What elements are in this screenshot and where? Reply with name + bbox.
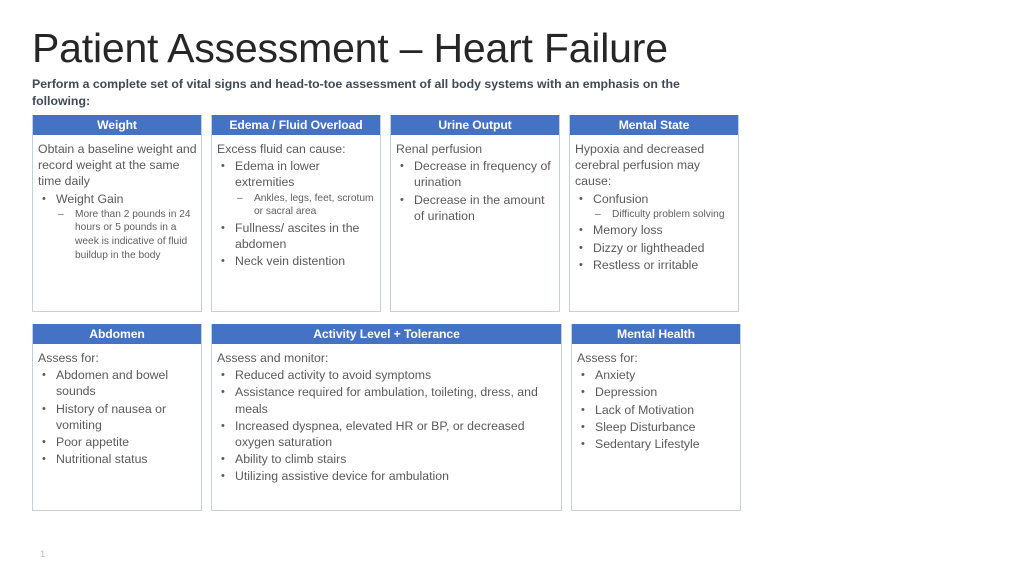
bullet-text: Poor appetite	[56, 435, 129, 449]
slide-canvas: Patient Assessment – Heart Failure Perfo…	[0, 0, 1024, 576]
card-row-top: Weight Obtain a baseline weight and reco…	[32, 115, 738, 312]
bullet-list: Weight Gain More than 2 pounds in 24 hou…	[38, 191, 197, 263]
list-item: History of nausea or vomiting	[38, 401, 197, 433]
page-title: Patient Assessment – Heart Failure	[32, 24, 792, 72]
card-header-edema-fluid-overload: Edema / Fluid Overload	[212, 115, 380, 135]
list-item: Decrease in the amount of urination	[396, 192, 555, 224]
bullet-text: Depression	[595, 385, 657, 399]
list-item: Abdomen and bowel sounds	[38, 367, 197, 399]
sub-list-item: Ankles, legs, feet, scrotum or sacral ar…	[235, 192, 376, 219]
card-lead-text: Renal perfusion	[396, 141, 555, 157]
list-item: Dizzy or lightheaded	[575, 240, 734, 256]
bullet-text: Anxiety	[595, 368, 635, 382]
list-item: Decrease in frequency of urination	[396, 158, 555, 190]
list-item: Edema in lower extremities Ankles, legs,…	[217, 158, 376, 219]
bullet-text: Decrease in the amount of urination	[414, 193, 545, 223]
list-item: Restless or irritable	[575, 257, 734, 273]
card-lead-text: Hypoxia and decreased cerebral perfusion…	[575, 141, 734, 190]
bullet-list: Decrease in frequency of urination Decre…	[396, 158, 555, 224]
card-body-activity-level-tolerance: Assess and monitor: Reduced activity to …	[212, 344, 561, 490]
card-urine-output[interactable]: Urine Output Renal perfusion Decrease in…	[390, 115, 560, 312]
bullet-text: Reduced activity to avoid symptoms	[235, 368, 431, 382]
bullet-text: History of nausea or vomiting	[56, 402, 166, 432]
sub-bullet-list: Ankles, legs, feet, scrotum or sacral ar…	[235, 192, 376, 219]
card-body-edema-fluid-overload: Excess fluid can cause: Edema in lower e…	[212, 135, 380, 274]
list-item: Assistance required for ambulation, toil…	[217, 384, 557, 416]
bullet-text: Nutritional status	[56, 452, 148, 466]
bullet-text: Assistance required for ambulation, toil…	[235, 385, 538, 415]
card-lead-text: Obtain a baseline weight and record weig…	[38, 141, 197, 190]
card-lead-text: Assess for:	[577, 350, 736, 366]
list-item: Memory loss	[575, 222, 734, 238]
list-item: Ability to climb stairs	[217, 451, 557, 467]
bullet-list: Anxiety Depression Lack of Motivation Sl…	[577, 367, 736, 452]
card-edema-fluid-overload[interactable]: Edema / Fluid Overload Excess fluid can …	[211, 115, 381, 312]
card-abdomen[interactable]: Abdomen Assess for: Abdomen and bowel so…	[32, 324, 202, 511]
bullet-text: Neck vein distention	[235, 254, 345, 268]
card-lead-text: Assess for:	[38, 350, 197, 366]
bullet-text: Fullness/ ascites in the abdomen	[235, 221, 359, 251]
card-header-mental-state: Mental State	[570, 115, 738, 135]
card-header-urine-output: Urine Output	[391, 115, 559, 135]
card-body-urine-output: Renal perfusion Decrease in frequency of…	[391, 135, 559, 229]
bullet-text: Ability to climb stairs	[235, 452, 346, 466]
bullet-text: Edema in lower extremities	[235, 159, 320, 189]
page-number: 1	[40, 549, 45, 560]
bullet-text: Sedentary Lifestyle	[595, 437, 700, 451]
sub-list-item: Difficulty problem solving	[593, 208, 734, 222]
list-item: Depression	[577, 384, 736, 400]
sub-bullet-list: Difficulty problem solving	[593, 208, 734, 222]
card-activity-level-tolerance[interactable]: Activity Level + Tolerance Assess and mo…	[211, 324, 562, 511]
card-row-bottom: Abdomen Assess for: Abdomen and bowel so…	[32, 324, 738, 511]
card-mental-state[interactable]: Mental State Hypoxia and decreased cereb…	[569, 115, 739, 312]
bullet-text: Confusion	[593, 192, 648, 206]
card-mental-health[interactable]: Mental Health Assess for: Anxiety Depres…	[571, 324, 741, 511]
bullet-list: Reduced activity to avoid symptoms Assis…	[217, 367, 557, 484]
list-item: Lack of Motivation	[577, 402, 736, 418]
card-body-mental-state: Hypoxia and decreased cerebral perfusion…	[570, 135, 738, 278]
list-item: Confusion Difficulty problem solving	[575, 191, 734, 222]
card-weight[interactable]: Weight Obtain a baseline weight and reco…	[32, 115, 202, 312]
bullet-text: Sleep Disturbance	[595, 420, 695, 434]
card-header-weight: Weight	[33, 115, 201, 135]
bullet-text: Restless or irritable	[593, 258, 698, 272]
sub-bullet-list: More than 2 pounds in 24 hours or 5 poun…	[56, 208, 197, 262]
card-lead-text: Assess and monitor:	[217, 350, 557, 366]
card-header-activity-level-tolerance: Activity Level + Tolerance	[212, 324, 561, 344]
bullet-text: Lack of Motivation	[595, 403, 694, 417]
list-item: Weight Gain More than 2 pounds in 24 hou…	[38, 191, 197, 263]
card-body-weight: Obtain a baseline weight and record weig…	[33, 135, 201, 267]
list-item: Fullness/ ascites in the abdomen	[217, 220, 376, 252]
list-item: Anxiety	[577, 367, 736, 383]
bullet-text: Memory loss	[593, 223, 663, 237]
list-item: Utilizing assistive device for ambulatio…	[217, 468, 557, 484]
list-item: Poor appetite	[38, 434, 197, 450]
bullet-text: Decrease in frequency of urination	[414, 159, 551, 189]
sub-list-item: More than 2 pounds in 24 hours or 5 poun…	[56, 208, 197, 262]
card-body-abdomen: Assess for: Abdomen and bowel sounds His…	[33, 344, 201, 472]
list-item: Reduced activity to avoid symptoms	[217, 367, 557, 383]
card-body-mental-health: Assess for: Anxiety Depression Lack of M…	[572, 344, 740, 457]
card-lead-text: Excess fluid can cause:	[217, 141, 376, 157]
list-item: Neck vein distention	[217, 253, 376, 269]
list-item: Nutritional status	[38, 451, 197, 467]
bullet-text: Increased dyspnea, elevated HR or BP, or…	[235, 419, 525, 449]
bullet-text: Dizzy or lightheaded	[593, 241, 704, 255]
bullet-list: Confusion Difficulty problem solving Mem…	[575, 191, 734, 273]
bullet-text: Abdomen and bowel sounds	[56, 368, 168, 398]
slide-subtitle: Perform a complete set of vital signs an…	[32, 76, 732, 110]
card-header-mental-health: Mental Health	[572, 324, 740, 344]
card-header-abdomen: Abdomen	[33, 324, 201, 344]
assessment-card-grid: Weight Obtain a baseline weight and reco…	[32, 115, 738, 511]
bullet-list: Abdomen and bowel sounds History of naus…	[38, 367, 197, 467]
list-item: Sleep Disturbance	[577, 419, 736, 435]
list-item: Sedentary Lifestyle	[577, 436, 736, 452]
list-item: Increased dyspnea, elevated HR or BP, or…	[217, 418, 557, 450]
bullet-text: Utilizing assistive device for ambulatio…	[235, 469, 449, 483]
bullet-list: Edema in lower extremities Ankles, legs,…	[217, 158, 376, 269]
bullet-text: Weight Gain	[56, 192, 123, 206]
